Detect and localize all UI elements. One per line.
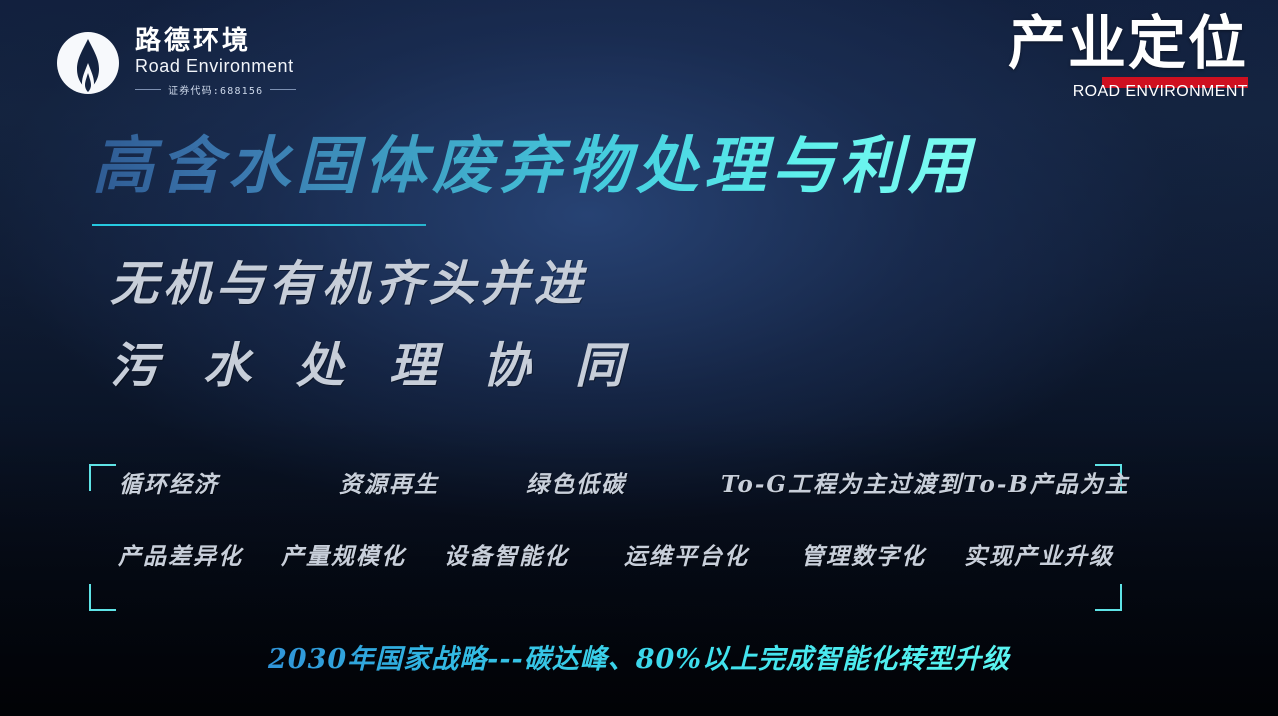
- keyword-item: To-G工程为主过渡到To-B产品为主: [721, 465, 1130, 499]
- keyword-item: 绿色低碳: [526, 465, 626, 499]
- rule-right-icon: [270, 89, 296, 90]
- corner-bracket-bottom-right-icon: [1095, 584, 1122, 611]
- company-logo: 路德环境 Road Environment 证券代码:688156: [55, 28, 296, 97]
- corner-bracket-bottom-left-icon: [89, 584, 116, 611]
- logo-company-name-en: Road Environment: [135, 57, 294, 76]
- keyword-item: 实现产业升级: [964, 537, 1114, 571]
- keyword-panel: 循环经济 资源再生 绿色低碳 To-G工程为主过渡到To-B产品为主 产品差异化…: [89, 464, 1122, 611]
- keyword-item: 产品差异化: [118, 537, 243, 571]
- footer-statement: 2030年国家战略---碳达峰、80%以上完成智能化转型升级: [0, 637, 1278, 676]
- keyword-item: 资源再生: [339, 465, 439, 499]
- corner-bracket-top-left-icon: [89, 464, 116, 491]
- slide-industry-positioning: 路德环境 Road Environment 证券代码:688156 产业定位 R…: [0, 0, 1278, 716]
- keyword-item: 管理数字化: [801, 537, 926, 571]
- logo-stock-code: 证券代码:688156: [168, 82, 263, 97]
- keyword-item: 设备智能化: [444, 537, 569, 571]
- subtitle-line-1: 无机与有机齐头并进: [110, 258, 587, 311]
- rule-left-icon: [135, 89, 161, 90]
- logo-stock-code-row: 证券代码:688156: [135, 82, 296, 97]
- road-environment-logo-icon: [55, 29, 121, 97]
- header-subtitle-wrap: ROAD ENVIRONMENT: [1073, 77, 1248, 102]
- keyword-item: 运维平台化: [624, 537, 749, 571]
- header-subtitle: ROAD ENVIRONMENT: [1073, 77, 1248, 102]
- headline-underline: [92, 224, 426, 226]
- keyword-item: 循环经济: [119, 465, 219, 499]
- page-title: 产业定位: [1008, 14, 1248, 72]
- main-headline: 高含水固体废弃物处理与利用: [92, 133, 976, 198]
- slide-header: 产业定位 ROAD ENVIRONMENT: [1008, 14, 1248, 102]
- keyword-item: 产量规模化: [281, 537, 406, 571]
- subtitle-line-2: 污水处理协同: [110, 340, 668, 393]
- logo-company-name-cn: 路德环境: [135, 28, 251, 55]
